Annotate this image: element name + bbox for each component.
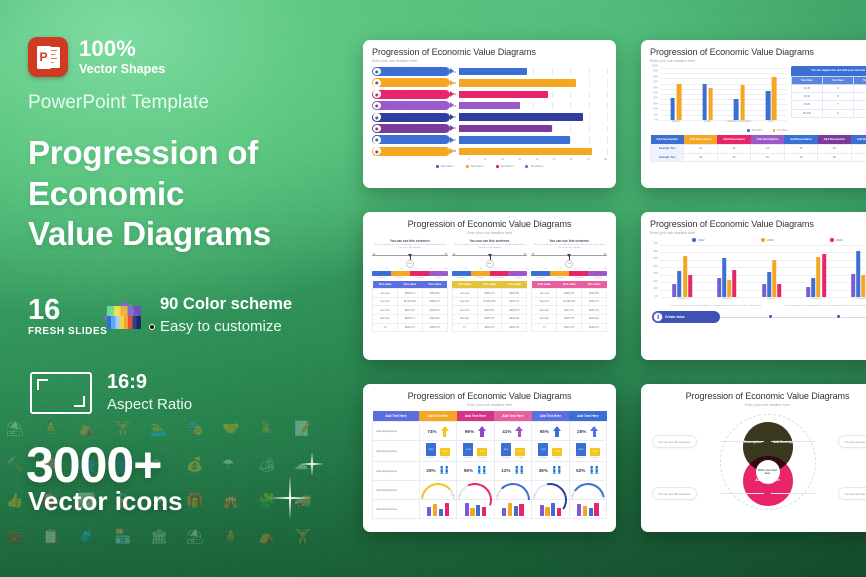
gauge-max-label: 100% xyxy=(600,495,605,497)
mini-bar-chart xyxy=(571,502,605,516)
gauge-chart: 0%100% xyxy=(533,483,567,496)
callout-leader-line xyxy=(720,493,764,494)
timeline-segment xyxy=(391,271,410,276)
kpi-value: 65% xyxy=(540,429,549,434)
grouped-column-chart: 70%60%50%40%30%20%10%0% Category 1Catego… xyxy=(650,244,866,304)
bar-row-pill[interactable]: ◉Put your Text here xyxy=(372,67,450,76)
bar-row-pill[interactable]: ◉Put your Text here xyxy=(372,78,450,87)
timeline-segment xyxy=(372,271,391,276)
bar-row-pill[interactable]: ◉Put your Text here xyxy=(372,124,450,133)
column-group xyxy=(673,245,693,297)
gauge-max-label: 100% xyxy=(563,495,568,497)
chart-legend: 202220232024 xyxy=(650,238,866,242)
chart-notes: This is a sample text. You already add y… xyxy=(650,305,866,308)
bar-row-value xyxy=(459,113,583,120)
mini-box: 1075Text Here xyxy=(463,443,473,459)
column-bar xyxy=(812,278,816,297)
vector-icon: 🚴 xyxy=(258,422,275,436)
y-tick: 50% xyxy=(653,92,658,95)
venn-center-label: Write your Text here xyxy=(756,460,780,484)
legend-item: Text Here xyxy=(773,129,788,132)
bar-row-pill[interactable]: ◉Put your Text here xyxy=(372,135,450,144)
table-cell xyxy=(851,153,866,162)
mini-bar xyxy=(465,503,469,516)
x-tick: 40 xyxy=(535,158,538,161)
bar-row-pill[interactable]: ◉Put your Text here xyxy=(372,101,450,110)
table-cell: 1075Text Here1275Text Here xyxy=(569,441,606,462)
bar-row-pill[interactable]: ◉Put your Text here xyxy=(372,113,450,122)
panel-table: Text valueText valueText valueJan-Aug$99… xyxy=(372,281,448,332)
y-tick: 20% xyxy=(653,281,658,283)
category-label: Price xyxy=(755,120,787,128)
timeline-panel: You can use this sentenceThis is a sampl… xyxy=(452,239,528,332)
table-row: Sep-Nov$1,984,694$996,172 xyxy=(532,297,607,306)
table-cell: 1075Text Here1275Text Here xyxy=(494,441,531,462)
table-cell: $994,073 xyxy=(557,323,582,332)
table-cell: $924,447 xyxy=(477,306,502,315)
timeline-bubble: Text xyxy=(486,260,494,268)
timeline-segment xyxy=(569,271,588,276)
table-header: Text value xyxy=(557,281,582,289)
color-scheme-title: 90 Color scheme xyxy=(160,294,292,315)
table-row: Sep-Nov$1,984,694$996,172 xyxy=(452,297,527,306)
kpi-value: 41% xyxy=(502,429,511,434)
callout-leader-line xyxy=(720,441,764,442)
vector-icon: 🧍 xyxy=(42,422,59,436)
slide-preview-column-table[interactable]: Progression of Economic Value Diagrams E… xyxy=(641,40,866,188)
bar-chart-x-axis: 01020304050607080 xyxy=(372,158,607,161)
bar-row-value xyxy=(459,125,552,132)
scale-tick: 40 xyxy=(480,268,482,270)
table-cell: 74% xyxy=(419,422,456,441)
table-cell: Text xyxy=(854,92,866,100)
column-bar xyxy=(683,256,687,297)
vector-icon: 💼 xyxy=(6,530,23,544)
mini-bar-chart xyxy=(496,502,530,516)
legend-label: 2022 xyxy=(698,238,705,242)
legend-item: 2023 xyxy=(761,238,773,242)
table-cell: 0%100% xyxy=(532,480,569,499)
kpi-matrix-table: Add Text HereAdd Text HereAdd Text HereA… xyxy=(372,411,607,519)
title-line-1: Progression of xyxy=(28,133,358,174)
column-group xyxy=(670,68,681,120)
table-row: Jan-Aug$995,073$993,661 xyxy=(373,289,448,298)
venn-stage: Add DescriptionAdd DescriptionAdd Descri… xyxy=(650,411,866,517)
table-cell: Jan-Aug xyxy=(373,289,398,298)
table-cell: 96%👤👤👤👤 xyxy=(457,461,494,480)
y-tick: 20% xyxy=(653,108,658,111)
mini-box-value: 1275 xyxy=(477,448,487,456)
table-cell: $995,073 xyxy=(397,289,422,298)
mini-box-value: 1075 xyxy=(576,443,586,456)
gauge-chart: 0%100% xyxy=(458,483,492,496)
segment-label: Text Here xyxy=(429,277,448,279)
bar-row-label: Put your Text here xyxy=(383,92,412,96)
x-tick: 70 xyxy=(587,158,590,161)
bar-row-value xyxy=(459,136,570,143)
mini-bar xyxy=(557,508,561,516)
table-cell: Jan-Aug xyxy=(452,289,477,298)
slide-preview-venn[interactable]: Progression of Economic Value Diagrams E… xyxy=(641,384,866,532)
segment-label: Text Here xyxy=(372,277,391,279)
avatar: ◉ xyxy=(373,68,381,76)
table-cell: 1075Text Here1275Text Here xyxy=(457,441,494,462)
slide-subtitle: Enter your sub headline here xyxy=(650,231,866,235)
bar-chart-row: ◉Put your Text here02 xyxy=(372,78,607,87)
mini-box-caption: Text Here xyxy=(501,457,511,459)
table-cell: $996,172 xyxy=(582,323,607,332)
timeline-panels: You can use this sentenceThis is a sampl… xyxy=(372,239,607,332)
panel-timeline: Text xyxy=(531,253,607,268)
vector-icon: ⛺ xyxy=(258,530,275,544)
kpi-value: 25% xyxy=(577,429,586,434)
slide-subtitle: Enter your sub headline here xyxy=(650,59,866,63)
table-cell: Mar-May xyxy=(452,315,477,324)
bar-row-track xyxy=(459,148,607,155)
table-cell: $995,073 xyxy=(422,306,447,315)
person-icon: 👤 xyxy=(594,471,599,475)
table-row: Dec-Feb$924,447$995,073 xyxy=(373,306,448,315)
people-icon-group: 👤👤👤👤 xyxy=(477,467,487,475)
scale-tick: 80 xyxy=(509,268,511,270)
table-cell: $996,172 xyxy=(502,323,527,332)
x-tick: 10 xyxy=(484,158,487,161)
bar-row-label: Put your Text here xyxy=(383,70,412,74)
legend-swatch xyxy=(496,165,499,168)
mini-box-value: 1275 xyxy=(590,448,600,456)
up-arrow-icon xyxy=(515,426,523,437)
table-cell: 52%👤👤👤👤 xyxy=(569,461,606,480)
slide-title: Progression of Economic Value Diagrams xyxy=(372,47,607,57)
bar-row-pill[interactable]: ◉Put your Text here xyxy=(372,147,450,156)
bar-row-track xyxy=(459,113,607,120)
legend-label: Text Here xyxy=(777,129,788,132)
column-bar xyxy=(688,275,692,297)
table-row: Sep-Nov$1,984,694$996,172 xyxy=(373,297,448,306)
bar-row-label: Put your Text here xyxy=(383,81,412,85)
timeline-panel: You can use this sentenceThis is a sampl… xyxy=(531,239,607,332)
up-arrow-icon xyxy=(590,426,598,437)
timeline-bubble: Text xyxy=(406,260,414,268)
legend-swatch xyxy=(466,165,469,168)
bottom-table-header: Add Description xyxy=(851,135,866,144)
gauge-min-label: 0% xyxy=(458,495,461,497)
slide-title: Progression of Economic Value Diagrams xyxy=(650,47,866,57)
timeline-segment xyxy=(531,271,550,276)
column-bar xyxy=(670,98,675,120)
timeline-dot-2 xyxy=(836,314,841,319)
column-group xyxy=(734,68,745,120)
mini-bar xyxy=(502,508,506,516)
table-header-row: Text valueText valueText value xyxy=(452,281,527,289)
bar-chart-row: ◉Put your Text here08 xyxy=(372,147,607,156)
table-cell: TV xyxy=(373,323,398,332)
column-bar xyxy=(678,271,682,297)
people-icon-group: 👤👤👤👤 xyxy=(514,467,524,475)
table-row: Dec-Feb$924,447$995,073 xyxy=(452,306,527,315)
side-table: Text HereText HereText Here 20-306Text40… xyxy=(791,76,866,119)
y-tick: 50% xyxy=(653,258,658,260)
legend-label: 2023 xyxy=(767,238,774,242)
mini-bar xyxy=(433,504,437,516)
callout-box[interactable]: You can use this sentence xyxy=(652,435,697,448)
slide-preview-three-timelines[interactable]: Progression of Economic Value Diagrams E… xyxy=(363,212,616,360)
y-tick: 30% xyxy=(653,102,658,105)
scale-tick: 60 xyxy=(574,268,576,270)
panel-description: This is a sample text. You already add y… xyxy=(531,244,607,250)
side-panel: You can replace this text with your own … xyxy=(791,66,866,128)
chart-categories: Category 1Category 2Category 3Category 4… xyxy=(660,297,866,304)
column-bar xyxy=(817,257,821,297)
legend-swatch xyxy=(830,238,833,241)
category-label: Category 3 xyxy=(749,297,794,304)
vector-icon: 🎁 xyxy=(186,494,203,508)
y-tick: 90% xyxy=(653,70,658,73)
table-header-row: Text valueText valueText value xyxy=(532,281,607,289)
scale-tick: 20 xyxy=(545,268,547,270)
create-value-label: Create value xyxy=(665,315,685,319)
person-icon: 👤 xyxy=(482,471,487,475)
legend-label: Text Menu xyxy=(501,164,514,168)
table-cell: $1,984,694 xyxy=(397,297,422,306)
category-label: Category 5 xyxy=(838,297,866,304)
table-cell: 18 xyxy=(784,153,817,162)
mini-box-caption: Text Here xyxy=(426,457,436,459)
legend-swatch xyxy=(436,165,439,168)
timeline-marker-stem xyxy=(569,255,570,260)
table-cell: TV xyxy=(452,323,477,332)
gauge-max-label: 100% xyxy=(525,495,530,497)
row-label: Add Description xyxy=(373,480,420,499)
mini-bar xyxy=(594,503,598,516)
bar-row-label: Put your Text here xyxy=(383,138,412,142)
mini-box: 1075Text Here xyxy=(576,443,586,459)
powerpoint-icon: P xyxy=(28,37,68,77)
slide-preview-kpi-matrix[interactable]: Progression of Economic Value Diagrams E… xyxy=(363,384,616,532)
segment-label: Text Here xyxy=(410,277,429,279)
segment-label: Text Here xyxy=(471,277,490,279)
table-row: Add Description74%96%41%65%25% xyxy=(373,422,607,441)
key-icon: ⚷ xyxy=(653,312,663,322)
mini-box: 1275Text Here xyxy=(477,448,487,459)
legend-swatch xyxy=(773,129,776,132)
table-row: Dec-Feb$924,447$995,073 xyxy=(532,306,607,315)
chart-y-axis: 70%60%50%40%30%20%10%0% xyxy=(650,244,659,297)
table-cell: 15 xyxy=(784,144,817,153)
bar-row-value xyxy=(459,148,592,155)
table-cell: 12%👤👤👤👤 xyxy=(494,461,531,480)
table-cell: 60-80 xyxy=(792,101,823,109)
bar-chart-row: ◉Put your Text here03 xyxy=(372,90,607,99)
panel-timeline: Text xyxy=(372,253,448,268)
table-row: 20-306Text xyxy=(792,84,866,92)
table-cell: $996,172 xyxy=(582,297,607,306)
vector-icon: 🏊 xyxy=(150,422,167,436)
gauge-chart: 0%100% xyxy=(421,483,455,496)
table-cell: Jan-Aug xyxy=(532,289,557,298)
slide-preview-grouped-years[interactable]: Progression of Economic Value Diagrams E… xyxy=(641,212,866,360)
slide-preview-bar-progress[interactable]: Progression of Economic Value Diagrams E… xyxy=(363,40,616,188)
bottom-table-header: Add Description xyxy=(751,135,784,144)
vector-icon: ☂ xyxy=(222,458,235,472)
segment-label: Text Here xyxy=(391,277,410,279)
gauge-min-label: 0% xyxy=(421,495,424,497)
y-tick: 40% xyxy=(653,97,658,100)
legend-item: Text Menu xyxy=(496,164,514,168)
category-label: Category 4 xyxy=(794,297,839,304)
legend-label: Text Here xyxy=(752,129,763,132)
legend-swatch xyxy=(525,165,528,168)
x-tick: 0 xyxy=(468,158,469,161)
legend-item: Text Here xyxy=(747,129,762,132)
column-bar xyxy=(856,251,860,297)
y-tick: 70% xyxy=(653,81,658,84)
column-bar xyxy=(762,284,766,297)
bar-row-pill[interactable]: ◉Put your Text here xyxy=(372,90,450,99)
table-cell: $924,447 xyxy=(397,306,422,315)
avatar: ◉ xyxy=(373,102,381,110)
table-row: Jan-Aug$995,073$993,661 xyxy=(532,289,607,298)
table-cell: 1075Text Here1275Text Here xyxy=(419,441,456,462)
aspect-ratio-icon xyxy=(30,372,92,414)
mini-bar xyxy=(589,508,593,516)
sparkle-large-icon xyxy=(268,476,312,520)
timeline-segment xyxy=(508,271,527,276)
column-group xyxy=(806,245,826,297)
side-table-header: Text Here xyxy=(854,76,866,84)
table-cell: $995,073 xyxy=(477,289,502,298)
up-arrow-icon xyxy=(553,426,561,437)
table-cell: Example Text xyxy=(651,144,684,153)
column-bar xyxy=(766,91,771,120)
timeline-scale: 020406080100 xyxy=(531,268,607,270)
avatar: ◉ xyxy=(373,79,381,87)
table-cell: $994,073 xyxy=(477,323,502,332)
callout-box[interactable]: You can use this sentence xyxy=(838,435,866,448)
category-label: Delivery xyxy=(660,120,692,128)
segment-labels: Text HereText HereText HereText Here xyxy=(452,277,528,279)
vector-icon: 🎭 xyxy=(186,422,203,436)
panel-timeline: Text xyxy=(452,253,528,268)
column-bar xyxy=(717,278,721,297)
table-cell: $1,984,694 xyxy=(477,297,502,306)
table-cell xyxy=(494,499,531,518)
kpi-value: 36% xyxy=(539,468,548,473)
mini-bar xyxy=(476,505,480,516)
table-cell: 0%100% xyxy=(569,480,606,499)
vector-icon: 👍 xyxy=(6,494,23,508)
legend-item: Text Menu xyxy=(436,164,454,168)
scale-tick: 80 xyxy=(430,268,432,270)
table-row: TV$994,073$996,172 xyxy=(452,323,527,332)
vector-icon: 🏛 xyxy=(150,530,168,544)
color-scheme-subtitle: Easy to customize xyxy=(160,317,292,337)
category-label: Category 1 xyxy=(660,297,705,304)
icons-count-label: Vector icons xyxy=(28,488,183,514)
segment-label: Text Here xyxy=(452,277,471,279)
x-tick: 50 xyxy=(553,158,556,161)
y-tick: 30% xyxy=(653,273,658,275)
mini-bar xyxy=(545,507,549,516)
timeline-segments xyxy=(531,271,607,276)
create-value-button[interactable]: ⚷ Create value xyxy=(652,311,720,323)
bottom-table-header: Add Description xyxy=(818,135,851,144)
column-group xyxy=(762,245,782,297)
page-title: Progression of Economic Value Diagrams xyxy=(28,133,358,255)
column-bar xyxy=(772,260,776,297)
column-group xyxy=(717,245,737,297)
table-cell: 25%👤👤👤👤 xyxy=(419,461,456,480)
callout-box[interactable]: You can use this sentence xyxy=(838,487,866,500)
column-bar xyxy=(733,270,737,297)
matrix-corner-header: Add Text Here xyxy=(373,411,420,422)
column-bar xyxy=(822,254,826,297)
panel-heading: You can use this sentence xyxy=(531,239,607,243)
slide-title: Progression of Economic Value Diagrams xyxy=(372,219,607,229)
bar-chart-row: ◉Put your Text here07 xyxy=(372,135,607,144)
legend-item: Text Menu xyxy=(525,164,543,168)
kpi-value: 25% xyxy=(426,468,435,473)
scale-tick: 0 xyxy=(531,268,532,270)
segment-label: Text Here xyxy=(569,277,588,279)
table-cell: Sep-Nov xyxy=(452,297,477,306)
mini-box-value: 1275 xyxy=(552,448,562,456)
avatar: ◉ xyxy=(373,136,381,144)
bottom-table-header: Add Description xyxy=(651,135,684,144)
y-tick: 10% xyxy=(653,288,658,290)
row-label: Add Description xyxy=(373,499,420,518)
slide-subtitle: Enter your sub headline here xyxy=(650,403,866,407)
bar-row-track xyxy=(459,91,607,98)
slide-subtitle: Enter your sub headline here xyxy=(372,403,607,407)
people-icon-group: 👤👤👤👤 xyxy=(440,467,450,475)
table-cell: 33 xyxy=(717,153,750,162)
table-row: Add Description0%100%0%100%0%100%0%100%0… xyxy=(373,480,607,499)
mini-box: 1075Text Here xyxy=(538,443,548,459)
table-cell: $995,073 xyxy=(557,315,582,324)
mini-box-value: 1275 xyxy=(440,448,450,456)
template-type-label: PowerPoint Template xyxy=(28,92,209,114)
table-cell: Text xyxy=(854,84,866,92)
table-cell: $995,073 xyxy=(477,315,502,324)
side-table-header: Text Here xyxy=(792,76,823,84)
column-bar xyxy=(677,84,682,120)
callout-box[interactable]: You can use this sentence xyxy=(652,487,697,500)
column-bar xyxy=(727,280,731,297)
table-cell: $993,661 xyxy=(502,315,527,324)
powerpoint-letter: P xyxy=(37,46,51,69)
mini-box: 1075Text Here xyxy=(501,443,511,459)
kpi-value: 96% xyxy=(465,429,474,434)
y-tick: 70% xyxy=(653,243,658,245)
table-cell: Example Text xyxy=(651,153,684,162)
mini-box-value: 1075 xyxy=(426,443,436,456)
kpi-value: 96% xyxy=(464,468,473,473)
bar-row-label: Put your Text here xyxy=(383,115,412,119)
avatar: ◉ xyxy=(373,147,381,155)
timeline-footer: ⚷ Create value xyxy=(650,310,866,324)
scale-tick: 40 xyxy=(400,268,402,270)
segment-label: Text Here xyxy=(490,277,509,279)
table-row: TV$994,073$996,172 xyxy=(532,323,607,332)
column-bar xyxy=(722,258,726,297)
table-cell: $995,073 xyxy=(557,289,582,298)
mini-bar xyxy=(482,507,486,516)
table-cell: $996,172 xyxy=(422,297,447,306)
bar-row-label: Put your Text here xyxy=(383,104,412,108)
timeline-panel: You can use this sentenceThis is a sampl… xyxy=(372,239,448,332)
legend-item: Text Menu xyxy=(466,164,484,168)
